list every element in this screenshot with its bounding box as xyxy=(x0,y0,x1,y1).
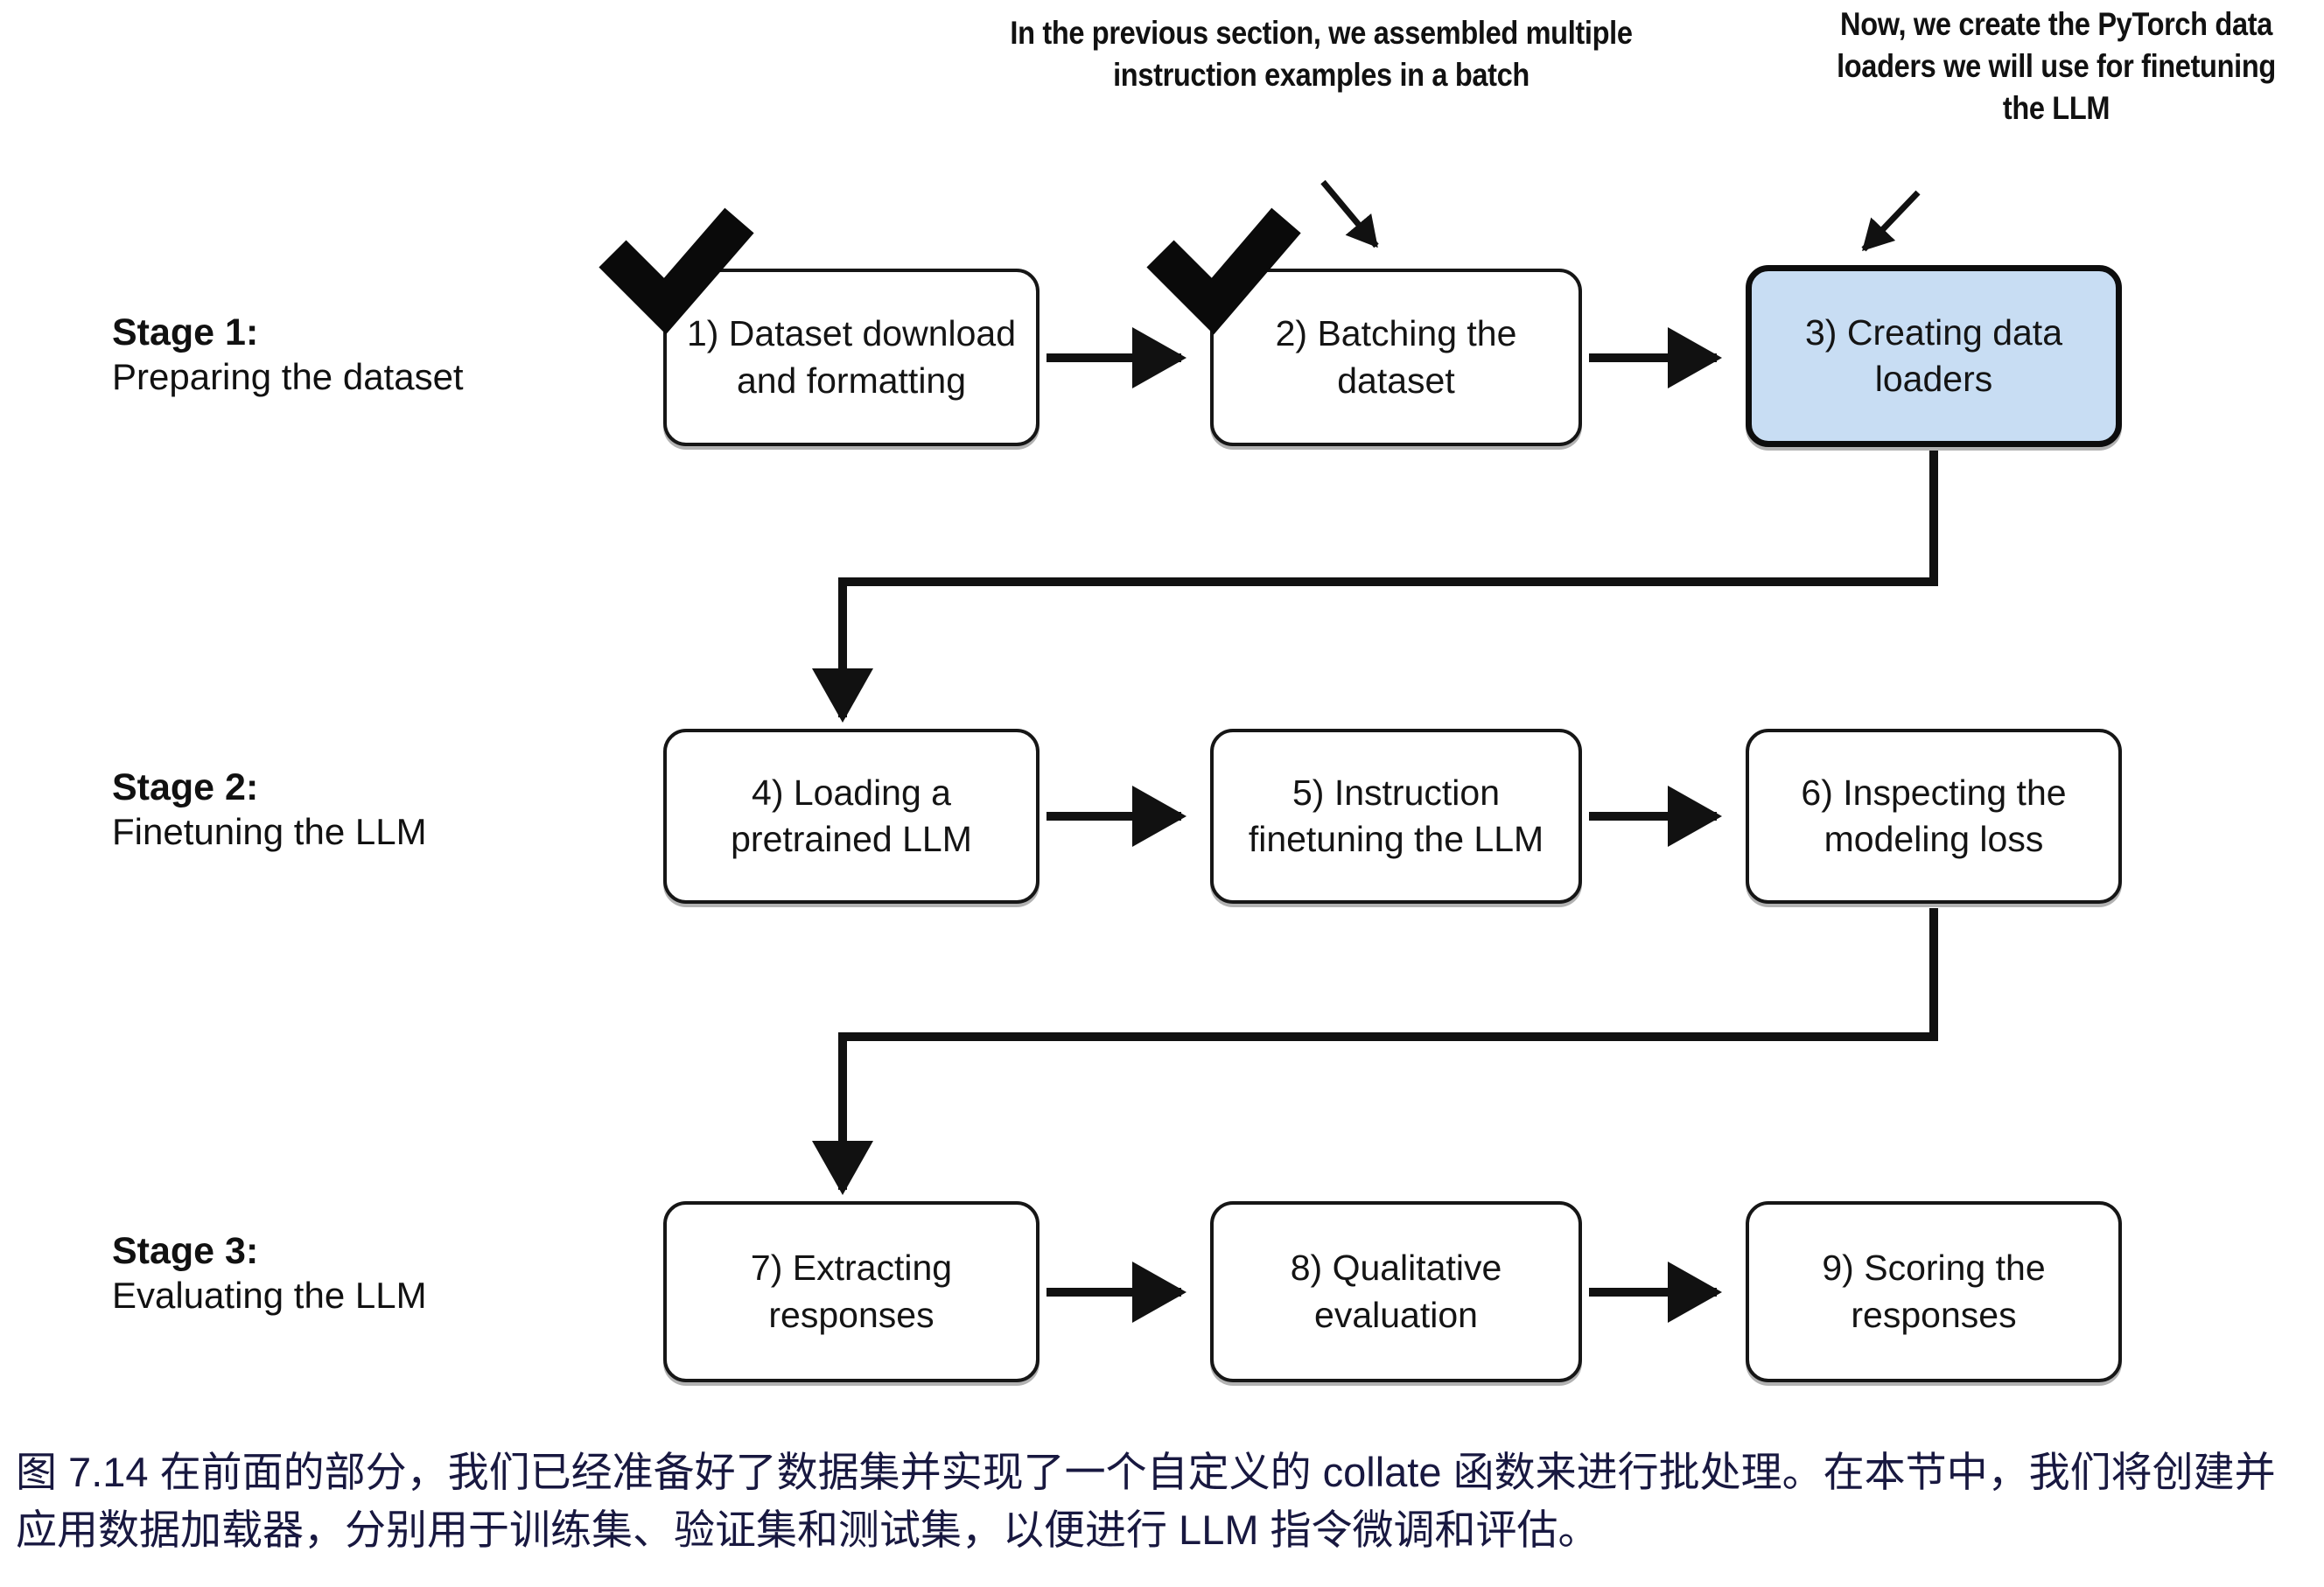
stage-label-1: Stage 1: Preparing the dataset xyxy=(112,311,637,398)
figure-caption: 图 7.14 在前面的部分，我们已经准备好了数据集并实现了一个自定义的 coll… xyxy=(16,1444,2312,1559)
stage-1-title: Stage 1: xyxy=(112,311,637,355)
step-node-7[interactable]: 7) Extracting responses xyxy=(663,1201,1039,1382)
step-node-5[interactable]: 5) Instruction finetuning the LLM xyxy=(1210,729,1582,904)
stage-label-3: Stage 3: Evaluating the LLM xyxy=(112,1229,637,1317)
step-node-4[interactable]: 4) Loading a pretrained LLM xyxy=(663,729,1039,904)
callout-pytorch-dataloaders: Now, we create the PyTorch data loaders … xyxy=(1825,3,2287,129)
figure-canvas: In the previous section, we assembled mu… xyxy=(0,0,2324,1587)
stage-2-subtitle: Finetuning the LLM xyxy=(112,810,637,854)
stage-3-subtitle: Evaluating the LLM xyxy=(112,1274,637,1318)
stage-label-2: Stage 2: Finetuning the LLM xyxy=(112,766,637,853)
stage-2-title: Stage 2: xyxy=(112,766,637,810)
step-node-1[interactable]: 1) Dataset download and formatting xyxy=(663,269,1039,446)
step-node-9[interactable]: 9) Scoring the responses xyxy=(1746,1201,2122,1382)
step-node-2[interactable]: 2) Batching the dataset xyxy=(1210,269,1582,446)
connector-step6-to-step7 xyxy=(843,908,1934,1190)
stage-1-subtitle: Preparing the dataset xyxy=(112,355,637,399)
leader-arrow-pytorch-dataloaders xyxy=(1864,192,1918,249)
callout-previous-section: In the previous section, we assembled mu… xyxy=(975,12,1668,96)
step-node-6[interactable]: 6) Inspecting the modeling loss xyxy=(1746,729,2122,904)
step-node-8[interactable]: 8) Qualitative evaluation xyxy=(1210,1201,1582,1382)
step-node-3[interactable]: 3) Creating data loaders xyxy=(1746,265,2122,447)
leader-arrow-previous-section xyxy=(1323,182,1376,246)
stage-3-title: Stage 3: xyxy=(112,1229,637,1274)
connector-step3-to-step4 xyxy=(843,451,1934,717)
